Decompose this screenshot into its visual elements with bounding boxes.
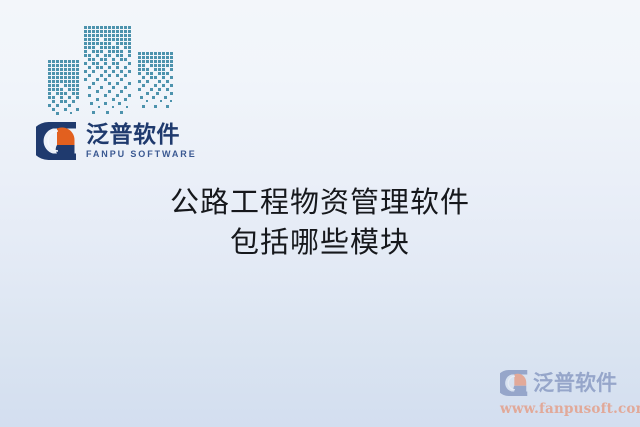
brand-name-cn: 泛普软件	[86, 123, 197, 147]
page-title-line-2: 包括哪些模块	[0, 222, 640, 262]
fanpu-brand-logo: 泛普软件 FANPU SOFTWARE	[36, 117, 188, 165]
fanpu-hexagon-logo-icon	[500, 369, 530, 397]
watermark-url: www.fanpusoft.com	[500, 401, 636, 417]
watermark-lockup: 泛普软件	[500, 367, 636, 399]
presentation-slide: 泛普软件 FANPU SOFTWARE 公路工程物资管理软件 包括哪些模块 泛普…	[0, 0, 640, 427]
brand-name-en: FANPU SOFTWARE	[86, 149, 197, 160]
pixel-cityscape-icon	[46, 24, 178, 120]
page-title: 公路工程物资管理软件 包括哪些模块	[0, 182, 640, 262]
brand-wordmark: 泛普软件 FANPU SOFTWARE	[86, 123, 197, 160]
page-title-line-1: 公路工程物资管理软件	[0, 182, 640, 222]
watermark: 泛普软件 www.fanpusoft.com	[500, 367, 636, 423]
fanpu-hexagon-logo-icon	[36, 121, 80, 161]
watermark-name-cn: 泛普软件	[533, 373, 617, 394]
